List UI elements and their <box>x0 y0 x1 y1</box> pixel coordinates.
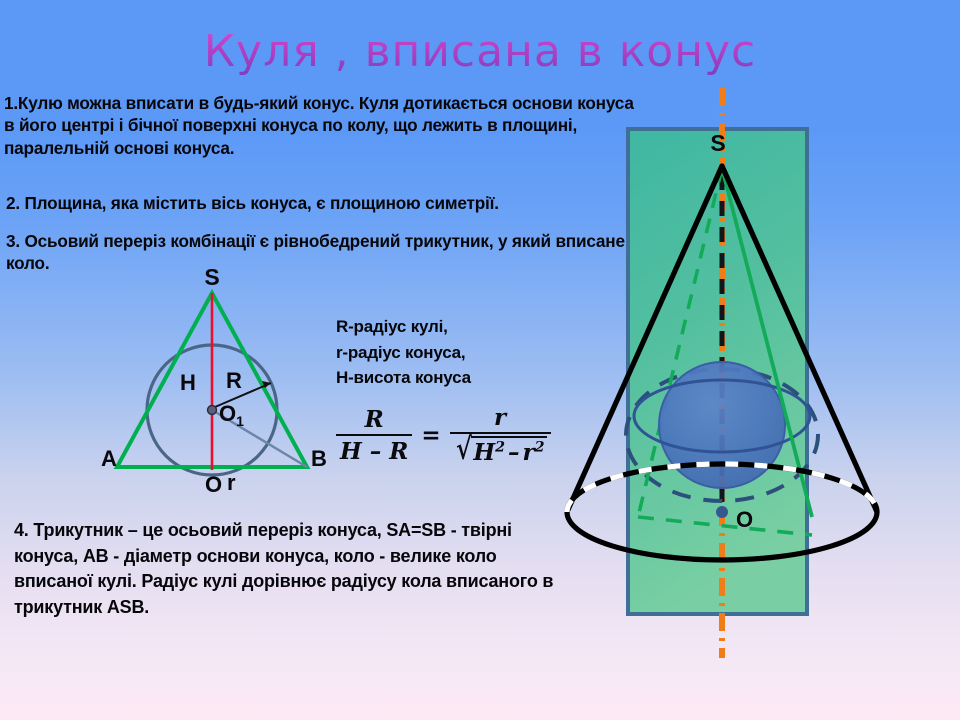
radical-sign: √ <box>456 437 472 467</box>
formula-left-numerator: R <box>356 406 393 434</box>
square-root-icon: √ H2–r2 <box>454 436 547 466</box>
radicand-H-exponent: 2 <box>495 439 505 455</box>
label-vertex-b: B <box>311 446 327 471</box>
label-apex-s: S <box>204 264 219 290</box>
axial-section-figure: S A B O r H R O1 <box>95 270 355 500</box>
radicand-minus: – <box>505 439 523 466</box>
label-sphere-radius-r: R <box>226 368 242 393</box>
formula-right-denominator: √ H2–r2 <box>450 432 551 466</box>
label-height-h: H <box>180 370 196 395</box>
incenter-point <box>208 406 217 415</box>
label-base-center-o: O <box>205 472 222 497</box>
radicand-H: H <box>473 439 495 466</box>
slide-canvas: Куля , вписана в конус 1.Кулю можна впис… <box>0 0 960 720</box>
inscribed-sphere-formula: R H – R = r √ H2–r2 <box>336 404 551 466</box>
legend-line-H: H-висота конуса <box>336 365 566 391</box>
formula-right-numerator: r <box>485 404 515 432</box>
label-cone-base-center-o: O <box>736 507 753 532</box>
label-cone-apex-s: S <box>710 130 725 156</box>
page-title: Куля , вписана в конус <box>0 26 960 77</box>
legend-line-R: R-радіус кулі, <box>336 314 566 340</box>
label-cone-radius-r: r <box>227 470 236 495</box>
label-vertex-a: A <box>101 446 117 471</box>
base-center-point <box>716 506 728 518</box>
label-incenter-o1: O1 <box>219 401 244 429</box>
cone-with-inscribed-sphere-figure: S O <box>540 80 960 680</box>
notation-legend: R-радіус кулі, r-радіус конуса, H-висота… <box>336 314 566 391</box>
formula-equals-sign: = <box>421 422 440 449</box>
radicand-r: r <box>523 439 535 466</box>
legend-line-r: r-радіус конуса, <box>336 340 566 366</box>
formula-right-fraction: r √ H2–r2 <box>450 404 551 466</box>
radicand: H2–r2 <box>471 436 546 466</box>
statement-4-text: 4. Трикутник – це осьовий переріз конуса… <box>14 518 574 620</box>
